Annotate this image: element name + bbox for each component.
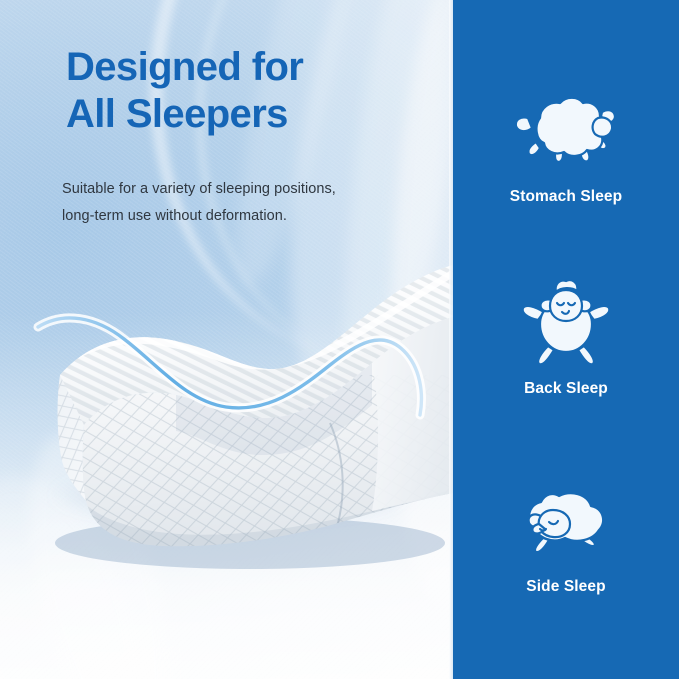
- pillow-illustration: [0, 255, 453, 585]
- pillow-image: [0, 255, 453, 585]
- sleep-positions-panel: Stomach Sleep: [453, 0, 679, 679]
- sleep-position-side: Side Sleep: [453, 468, 679, 596]
- headline-line-1: Designed for: [66, 45, 303, 89]
- page-title: Designed for All Sleepers: [66, 44, 426, 138]
- sleep-position-label: Side Sleep: [453, 578, 679, 596]
- sheep-stomach-sleep-icon: [453, 78, 679, 182]
- product-feature-banner: Designed for All Sleepers Suitable for a…: [0, 0, 679, 679]
- sleep-position-label: Back Sleep: [453, 380, 679, 398]
- sheep-side-sleep-icon: [453, 468, 679, 572]
- subtitle-line-1: Suitable for a variety of sleeping posit…: [62, 176, 422, 203]
- product-photo-panel: Designed for All Sleepers Suitable for a…: [0, 0, 453, 679]
- sleep-position-label: Stomach Sleep: [453, 188, 679, 206]
- sleep-position-back: Back Sleep: [453, 270, 679, 398]
- headline-line-2: All Sleepers: [66, 91, 426, 138]
- sheep-back-sleep-icon: [453, 270, 679, 374]
- sleep-position-stomach: Stomach Sleep: [453, 78, 679, 206]
- page-subtitle: Suitable for a variety of sleeping posit…: [62, 176, 422, 230]
- subtitle-line-2: long-term use without deformation.: [62, 203, 422, 230]
